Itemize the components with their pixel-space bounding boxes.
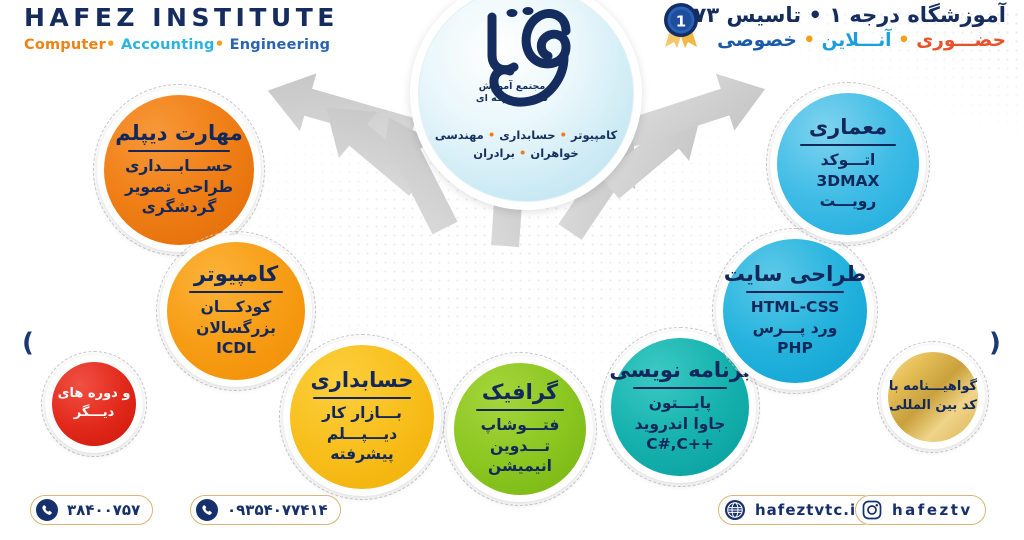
- audience-brothers: برادران: [473, 146, 515, 160]
- bubble-graphics-item-2: انیمیشن: [488, 456, 552, 476]
- center-audience-line: خواهران • برادران: [473, 146, 578, 160]
- bubble-diploma-skill-title: مهارت دیپلم: [115, 122, 243, 148]
- bubble-graphics-inner: گرافیک فتـــوشاپ تـــدوین انیمیشن: [454, 363, 586, 495]
- bubble-architecture-item-2: رویـــت: [820, 191, 877, 211]
- bubble-diploma-skill[interactable]: مهارت دیپلم حســـابـــداری طراحی تصویر گ…: [97, 88, 261, 252]
- badge-other-courses[interactable]: و دوره های دیـــگر: [45, 355, 143, 453]
- brand-subtitle-en: Computer• Accounting• Engineering: [24, 35, 339, 53]
- bubble-programming-item-1: جاوا اندروید: [635, 414, 726, 434]
- bubble-architecture-inner: معماری اتـــوکد 3DMAX رویـــت: [777, 93, 919, 235]
- contact-footer: ۳۸۴۰۰۷۵۷ ۰۹۳۵۴۰۷۷۴۱۴: [0, 488, 1024, 540]
- badge-certificate-line2: کد بین المللی: [889, 397, 977, 416]
- bubble-graphics-rule: [476, 409, 565, 411]
- phone-pill-landline[interactable]: ۳۸۴۰۰۷۵۷: [30, 495, 153, 525]
- bubble-graphics[interactable]: گرافیک فتـــوشاپ تـــدوین انیمیشن: [447, 356, 593, 502]
- bubble-computer[interactable]: کامپیوتر کودکـــان بزرگسالان ICDL: [160, 235, 312, 387]
- badge-other-courses-line1: و دوره های: [58, 385, 131, 404]
- service-sep-2: •: [488, 128, 495, 142]
- bubble-architecture-rule: [800, 144, 896, 146]
- badge-certificate-inner: گواهیـــنامه با کد بین المللی: [888, 352, 978, 442]
- brand-title-en: HAFEZ INSTITUTE: [24, 4, 339, 33]
- right-paren-mark: ): [989, 328, 1001, 358]
- brand-sep-2: •: [215, 35, 225, 53]
- bubble-accounting[interactable]: حسابداری بـــازار کار دیـــپـــلم پیشرفت…: [283, 338, 441, 496]
- mode-sep-1: •: [898, 30, 910, 51]
- brand-word-accounting: Accounting: [121, 37, 215, 53]
- phone-icon: [196, 499, 218, 521]
- phone-mobile-value: ۰۹۳۵۴۰۷۷۴۱۴: [227, 501, 328, 519]
- brand-word-computer: Computer: [24, 37, 106, 53]
- service-computer: کامپیوتر: [571, 128, 617, 142]
- bubble-architecture-title: معماری: [809, 116, 887, 142]
- audience-sisters: خواهران: [530, 146, 578, 160]
- bubble-accounting-item-0: بـــازار کار: [322, 403, 402, 423]
- bubble-graphics-item-0: فتـــوشاپ: [481, 415, 560, 435]
- instagram-pill[interactable]: hafeztv: [855, 495, 986, 525]
- bubble-computer-item-2: ICDL: [216, 338, 256, 358]
- bubble-accounting-item-2: پیشرفته: [330, 444, 393, 464]
- instagram-icon: [861, 499, 883, 521]
- svg-text:1: 1: [676, 13, 686, 31]
- bubble-web-design-item-1: ورد پـــرس: [753, 318, 838, 338]
- bubble-accounting-rule: [313, 397, 411, 399]
- left-paren-mark: (: [22, 328, 34, 358]
- bubble-web-design[interactable]: طراحی سایت HTML-CSS ورد پـــرس PHP: [716, 232, 874, 390]
- bubble-programming-rule: [633, 387, 726, 389]
- website-pill[interactable]: hafeztvtc.ir: [718, 495, 877, 525]
- poster-canvas: HAFEZ INSTITUTE Computer• Accounting• En…: [0, 0, 1024, 540]
- website-value: hafeztvtc.ir: [755, 501, 864, 519]
- bubble-computer-title: کامپیوتر: [194, 263, 278, 289]
- logo-subtitle: مجتمع آموزش فنی و حرفه ای: [476, 81, 548, 106]
- mode-sep-2: •: [803, 30, 815, 51]
- bubble-computer-item-1: بزرگسالان: [196, 318, 276, 338]
- bubble-architecture-item-0: اتـــوکد: [821, 150, 876, 170]
- bubble-programming-inner: برنامه نویسی پایـــتون جاوا اندروید C#,C…: [611, 338, 749, 476]
- bubble-computer-item-0: کودکـــان: [201, 297, 272, 317]
- bubble-web-design-title: طراحی سایت: [724, 263, 866, 289]
- institute-grade-line: آموزشگاه درجه ۱ • تاسیس ۱۳۷۳: [668, 2, 1006, 28]
- center-services-line: کامپیوتر • حسابداری • مهندسی: [435, 128, 617, 142]
- phone-landline-value: ۳۸۴۰۰۷۵۷: [67, 501, 140, 519]
- bubble-web-design-item-2: PHP: [777, 338, 813, 358]
- bubble-diploma-skill-item-1: طراحی تصویر: [125, 177, 233, 197]
- phone-icon: [36, 499, 58, 521]
- bubble-web-design-item-0: HTML-CSS: [751, 297, 840, 317]
- phone-pill-mobile[interactable]: ۰۹۳۵۴۰۷۷۴۱۴: [190, 495, 341, 525]
- service-sep-1: •: [560, 128, 567, 142]
- bubble-graphics-item-1: تـــدوین: [490, 436, 550, 456]
- bubble-accounting-inner: حسابداری بـــازار کار دیـــپـــلم پیشرفت…: [290, 345, 434, 489]
- badge-certificate-line1: گواهیـــنامه با: [889, 378, 977, 397]
- bubble-diploma-skill-inner: مهارت دیپلم حســـابـــداری طراحی تصویر گ…: [104, 95, 254, 245]
- brand-sep-1: •: [106, 35, 116, 53]
- bubble-web-design-rule: [746, 291, 844, 293]
- service-accounting: حسابداری: [499, 128, 555, 142]
- bubble-graphics-title: گرافیک: [482, 381, 558, 407]
- mode-in-person: حضـــوری: [916, 30, 1006, 51]
- mode-online: آنـــلاین: [822, 30, 892, 51]
- logo-subtitle-line1: مجتمع آموزش: [476, 81, 548, 93]
- bubble-programming-item-2: C#,C++: [646, 434, 714, 454]
- bubble-programming-title: برنامه نویسی: [609, 359, 750, 385]
- bubble-computer-rule: [189, 291, 282, 293]
- brand-block-persian: آموزشگاه درجه ۱ • تاسیس ۱۳۷۳ حضـــوری • …: [668, 2, 1006, 52]
- bubble-programming-item-0: پایـــتون: [649, 393, 712, 413]
- bubble-diploma-skill-item-2: گردشگری: [142, 197, 217, 217]
- audience-sep: •: [519, 146, 526, 160]
- badge-other-courses-line2: دیـــگر: [74, 404, 115, 423]
- globe-icon: [724, 499, 746, 521]
- bubble-accounting-item-1: دیـــپـــلم: [327, 424, 397, 444]
- badge-certificate[interactable]: گواهیـــنامه با کد بین المللی: [881, 345, 985, 449]
- bubble-architecture[interactable]: معماری اتـــوکد 3DMAX رویـــت: [770, 86, 926, 242]
- bubble-computer-inner: کامپیوتر کودکـــان بزرگسالان ICDL: [167, 242, 305, 380]
- bubble-web-design-inner: طراحی سایت HTML-CSS ورد پـــرس PHP: [723, 239, 867, 383]
- bubble-diploma-skill-item-0: حســـابـــداری: [125, 156, 233, 176]
- brand-block-english: HAFEZ INSTITUTE Computer• Accounting• En…: [24, 4, 339, 53]
- logo-subtitle-line2: فنی و حرفه ای: [476, 93, 548, 105]
- bubble-diploma-skill-rule: [128, 150, 230, 152]
- medal-ribbon-icon: 1: [660, 1, 702, 49]
- bubble-accounting-title: حسابداری: [311, 369, 414, 395]
- class-modes-line: حضـــوری • آنـــلاین • خصوصی: [668, 29, 1006, 52]
- instagram-value: hafeztv: [892, 501, 973, 519]
- brand-word-engineering: Engineering: [230, 37, 331, 53]
- service-engineering: مهندسی: [435, 128, 484, 142]
- badge-other-courses-inner: و دوره های دیـــگر: [52, 362, 136, 446]
- mode-private: خصوصی: [717, 30, 797, 51]
- bubble-architecture-item-1: 3DMAX: [816, 171, 879, 191]
